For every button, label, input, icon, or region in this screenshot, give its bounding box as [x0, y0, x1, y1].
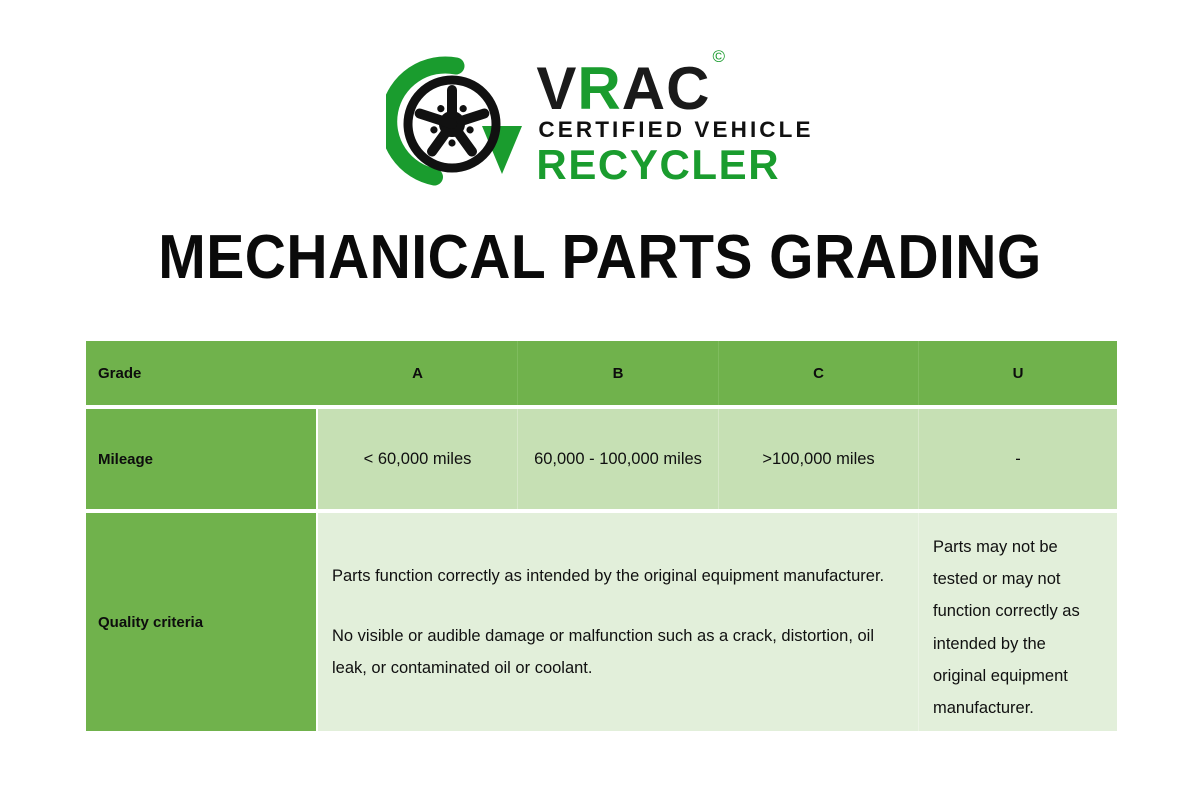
copyright-icon: ©: [712, 47, 726, 66]
logo-letter-r: R: [577, 55, 621, 122]
mechanical-parts-grading-table: Grade A B C U Mileage < 60,000 miles 60,…: [86, 341, 1117, 731]
page-title: MECHANICAL PARTS GRADING: [48, 222, 1152, 293]
header-cell-u: U: [919, 341, 1117, 405]
quality-cell-u: Parts may not be tested or may not funct…: [919, 513, 1117, 731]
quality-cell-abc: Parts function correctly as intended by …: [318, 513, 919, 731]
logo-letter-v: V: [536, 55, 577, 122]
header-cell-b: B: [518, 341, 719, 405]
logo-wordmark: VRAC© CERTIFIED VEHICLE RECYCLER: [536, 57, 813, 187]
header-cell-a: A: [318, 341, 518, 405]
brand-logo: VRAC© CERTIFIED VEHICLE RECYCLER: [0, 52, 1200, 192]
logo-recycler-text: RECYCLER: [536, 144, 813, 187]
quality-paragraph-u: Parts may not be tested or may not funct…: [933, 531, 1103, 724]
quality-paragraph-1: Parts function correctly as intended by …: [332, 560, 900, 592]
table-header-row: Grade A B C U: [86, 341, 1117, 405]
mileage-cell-c: >100,000 miles: [719, 409, 919, 509]
logo-inner: VRAC© CERTIFIED VEHICLE RECYCLER: [386, 52, 813, 192]
header-cell-c: C: [719, 341, 919, 405]
logo-vrac-text: VRAC©: [536, 61, 813, 116]
table-row-mileage: Mileage < 60,000 miles 60,000 - 100,000 …: [86, 409, 1117, 509]
mileage-cell-b: 60,000 - 100,000 miles: [518, 409, 719, 509]
quality-paragraph-2: No visible or audible damage or malfunct…: [332, 620, 900, 684]
recycle-wheel-icon: [386, 52, 526, 192]
logo-letters-ac: AC: [622, 55, 711, 122]
table-row-quality-criteria: Quality criteria Parts function correctl…: [86, 513, 1117, 731]
header-cell-grade: Grade: [86, 341, 318, 405]
mileage-cell-a: < 60,000 miles: [318, 409, 518, 509]
mileage-cell-u: -: [919, 409, 1117, 509]
row-label-mileage: Mileage: [86, 409, 318, 509]
row-label-quality-criteria: Quality criteria: [86, 513, 318, 731]
